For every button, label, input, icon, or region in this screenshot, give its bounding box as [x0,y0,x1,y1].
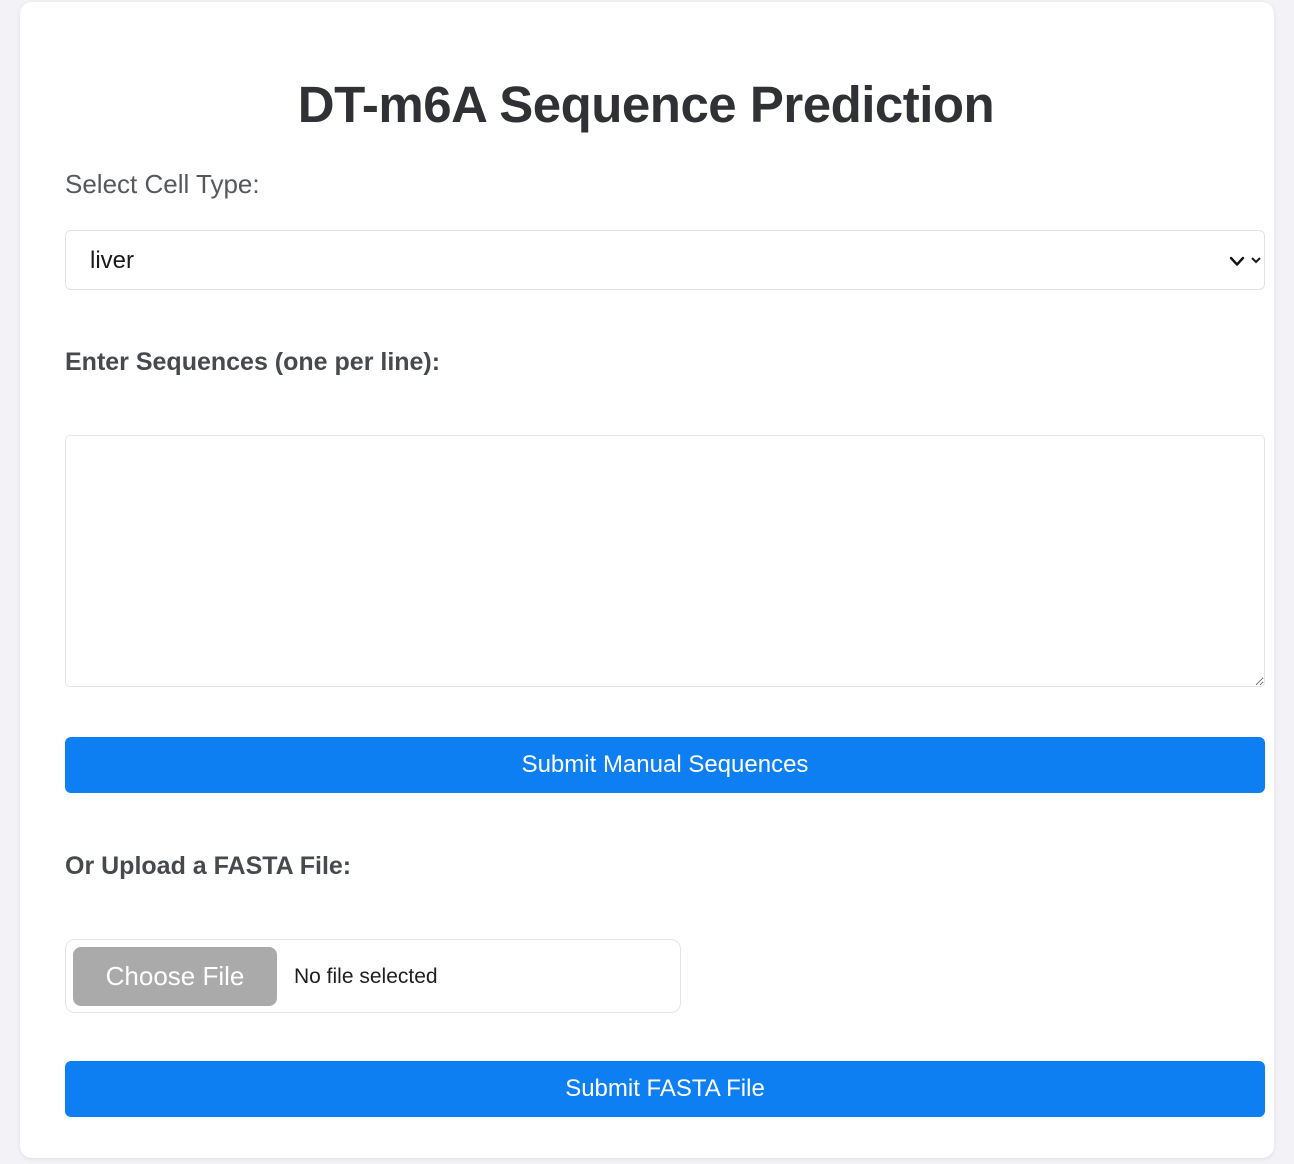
file-input-row[interactable]: Choose File No file selected [65,939,681,1013]
fasta-upload-label: Or Upload a FASTA File: [65,850,351,882]
sequences-textarea[interactable] [65,435,1265,687]
form-container: DT-m6A Sequence Prediction Select Cell T… [46,2,1246,1158]
sequences-label: Enter Sequences (one per line): [65,346,440,378]
choose-file-button[interactable]: Choose File [73,947,277,1006]
submit-fasta-file-button[interactable]: Submit FASTA File [65,1061,1265,1117]
page-title: DT-m6A Sequence Prediction [46,74,1246,136]
cell-type-label: Select Cell Type: [65,168,260,200]
cell-type-select[interactable]: liver [65,230,1265,290]
cell-type-select-wrapper: liver [65,230,1265,290]
submit-manual-sequences-button[interactable]: Submit Manual Sequences [65,737,1265,793]
file-status-text: No file selected [294,964,438,990]
main-card: DT-m6A Sequence Prediction Select Cell T… [20,2,1274,1158]
